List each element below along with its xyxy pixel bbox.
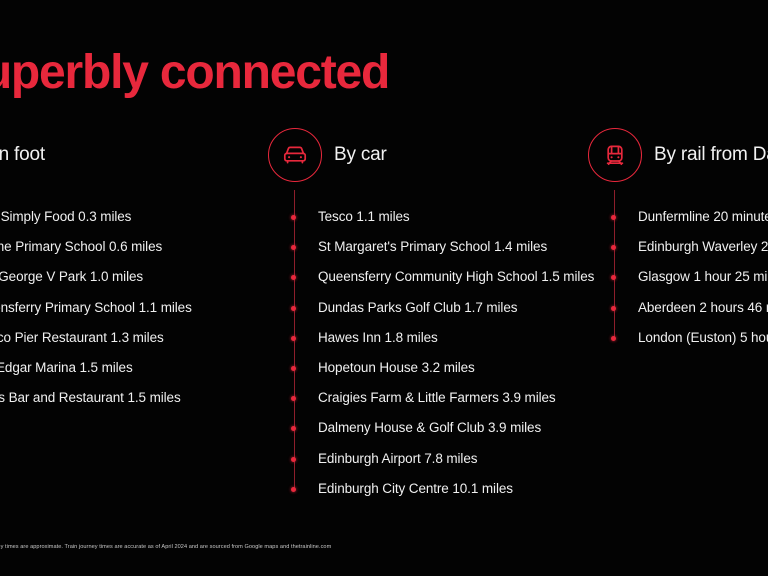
timeline-dot-icon xyxy=(291,426,296,431)
list-item-label: St Margaret's Primary School 1.4 miles xyxy=(318,238,547,256)
list-item: Dundas Parks Golf Club 1.7 miles xyxy=(268,299,608,329)
column-title-by-rail: By rail from Dalmeny xyxy=(654,142,768,168)
timeline-dot-icon xyxy=(611,336,616,341)
timeline-dot-icon xyxy=(291,366,296,371)
list-item: King George V Park 1.0 miles xyxy=(0,268,258,298)
list-item-label: Dunfermline 20 minutes xyxy=(638,208,768,226)
timeline-by-rail: Dunfermline 20 minutesEdinburgh Waverley… xyxy=(588,208,768,359)
timeline-dot-icon xyxy=(291,275,296,280)
list-item: Queensferry Community High School 1.5 mi… xyxy=(268,268,608,298)
list-item-label: Glasgow 1 hour 25 minutes xyxy=(638,268,768,286)
column-by-rail: By rail from Dalmeny Dunfermline 20 minu… xyxy=(588,128,768,359)
list-item: Tesco 1.1 miles xyxy=(268,208,608,238)
list-item: London (Euston) 5 hours 30 minutes xyxy=(588,329,768,359)
car-icon xyxy=(268,128,322,182)
list-item-label: Edinburgh Airport 7.8 miles xyxy=(318,450,477,468)
train-icon xyxy=(588,128,642,182)
list-item: Scotts Bar and Restaurant 1.5 miles xyxy=(0,389,258,419)
timeline-on-foot: M&S Simply Food 0.3 milesEchline Primary… xyxy=(0,208,258,419)
list-item: M&S Simply Food 0.3 miles xyxy=(0,208,258,238)
timeline-dot-icon xyxy=(291,396,296,401)
list-item: St Margaret's Primary School 1.4 miles xyxy=(268,238,608,268)
timeline-by-car: Tesco 1.1 milesSt Margaret's Primary Sch… xyxy=(268,208,608,510)
list-item-label: King George V Park 1.0 miles xyxy=(0,268,143,286)
list-item: Glasgow 1 hour 25 minutes xyxy=(588,268,768,298)
timeline-dot-icon xyxy=(291,457,296,462)
list-item: Dunfermline 20 minutes xyxy=(588,208,768,238)
list-item-label: Port Edgar Marina 1.5 miles xyxy=(0,359,133,377)
footnote: All distances and journey times are appr… xyxy=(0,543,331,552)
column-header-by-car: By car xyxy=(268,128,608,190)
list-item: Hawes Inn 1.8 miles xyxy=(268,329,608,359)
list-item-label: Edinburgh Waverley 20 minutes xyxy=(638,238,768,256)
list-item-label: Orocco Pier Restaurant 1.3 miles xyxy=(0,329,164,347)
timeline-dot-icon xyxy=(611,306,616,311)
list-item-label: Dalmeny House & Golf Club 3.9 miles xyxy=(318,419,541,437)
column-header-on-foot: On foot xyxy=(0,128,258,190)
list-item-label: Aberdeen 2 hours 46 minutes xyxy=(638,299,768,317)
list-item-label: Queensferry Primary School 1.1 miles xyxy=(0,299,192,317)
list-item: Queensferry Primary School 1.1 miles xyxy=(0,299,258,329)
list-item-label: Edinburgh City Centre 10.1 miles xyxy=(318,480,513,498)
timeline-dot-icon xyxy=(291,306,296,311)
list-item-label: Tesco 1.1 miles xyxy=(318,208,410,226)
timeline-dot-icon xyxy=(291,215,296,220)
list-item: Aberdeen 2 hours 46 minutes xyxy=(588,299,768,329)
list-item-label: Echline Primary School 0.6 miles xyxy=(0,238,162,256)
list-item-label: Dundas Parks Golf Club 1.7 miles xyxy=(318,299,517,317)
list-item-label: Queensferry Community High School 1.5 mi… xyxy=(318,268,594,286)
list-item: Dalmeny House & Golf Club 3.9 miles xyxy=(268,419,608,449)
column-title-by-car: By car xyxy=(334,142,387,168)
list-item-label: Hawes Inn 1.8 miles xyxy=(318,329,438,347)
slide-canvas: Superbly connected On foot M&S Simply Fo… xyxy=(0,0,768,576)
list-item: Edinburgh City Centre 10.1 miles xyxy=(268,480,608,510)
list-item: Craigies Farm & Little Farmers 3.9 miles xyxy=(268,389,608,419)
timeline-dot-icon xyxy=(291,245,296,250)
list-item: Port Edgar Marina 1.5 miles xyxy=(0,359,258,389)
timeline-dot-icon xyxy=(291,336,296,341)
list-item: Edinburgh Airport 7.8 miles xyxy=(268,450,608,480)
timeline-dot-icon xyxy=(611,275,616,280)
column-by-car: By car Tesco 1.1 milesSt Margaret's Prim… xyxy=(268,128,608,510)
page-title: Superbly connected xyxy=(0,44,389,102)
list-item: Orocco Pier Restaurant 1.3 miles xyxy=(0,329,258,359)
list-item: Hopetoun House 3.2 miles xyxy=(268,359,608,389)
list-item-label: M&S Simply Food 0.3 miles xyxy=(0,208,131,226)
column-title-on-foot: On foot xyxy=(0,142,45,168)
list-item-label: London (Euston) 5 hours 30 minutes xyxy=(638,329,768,347)
column-on-foot: On foot M&S Simply Food 0.3 milesEchline… xyxy=(0,128,258,419)
list-item: Edinburgh Waverley 20 minutes xyxy=(588,238,768,268)
list-item-label: Scotts Bar and Restaurant 1.5 miles xyxy=(0,389,181,407)
timeline-dot-icon xyxy=(611,245,616,250)
list-item-label: Hopetoun House 3.2 miles xyxy=(318,359,475,377)
timeline-dot-icon xyxy=(611,215,616,220)
list-item-label: Craigies Farm & Little Farmers 3.9 miles xyxy=(318,389,556,407)
column-header-by-rail: By rail from Dalmeny xyxy=(588,128,768,190)
list-item: Echline Primary School 0.6 miles xyxy=(0,238,258,268)
timeline-dot-icon xyxy=(291,487,296,492)
